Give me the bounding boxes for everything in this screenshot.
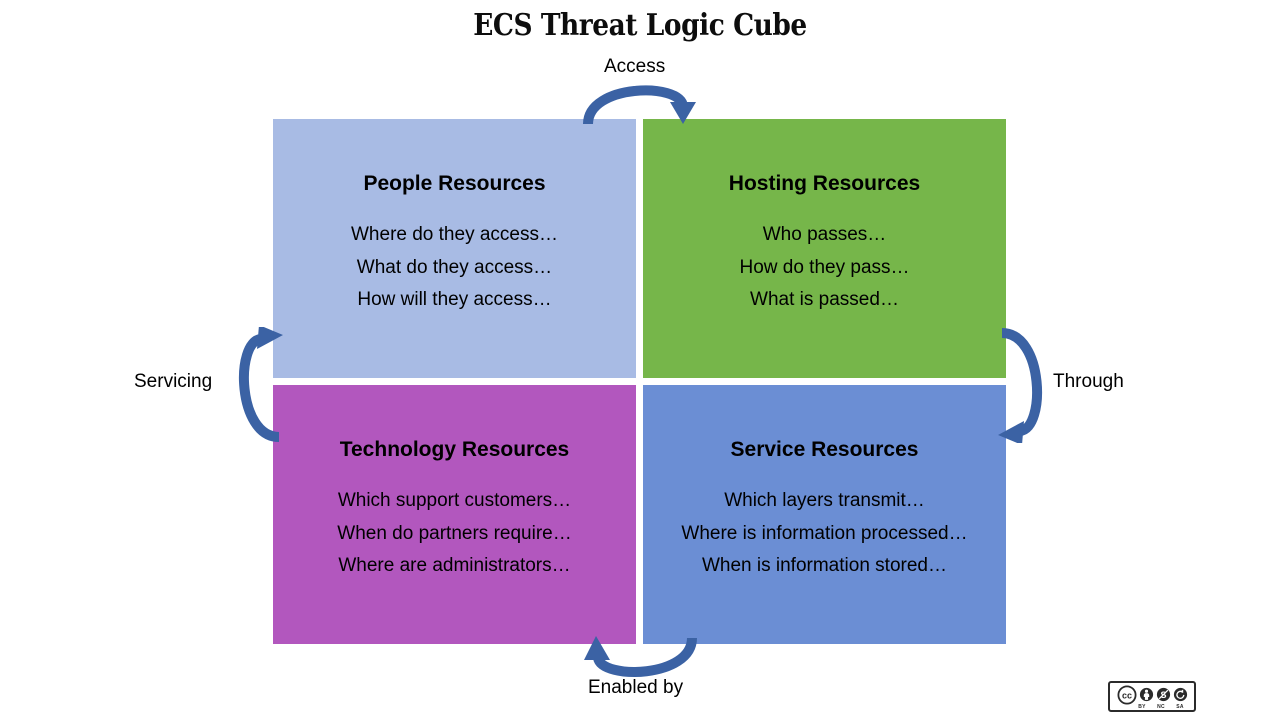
arrow-label-enabled-by: Enabled by <box>588 677 683 699</box>
cc-badge-labels: BY NC SA <box>1117 704 1188 710</box>
quadrant-line: Which support customers… <box>337 488 571 514</box>
quadrant-line: Who passes… <box>739 222 909 248</box>
quadrant-line: Where do they access… <box>351 222 558 248</box>
quadrant-people-resources[interactable]: People Resources Where do they access… W… <box>273 119 636 378</box>
page-title: ECS Threat Logic Cube <box>77 8 1203 43</box>
quadrant-hosting-resources[interactable]: Hosting Resources Who passes… How do the… <box>643 119 1006 378</box>
quadrant-line: Which layers transmit… <box>681 488 967 514</box>
quadrant-lines: Which support customers… When do partner… <box>337 488 571 579</box>
arrow-servicing <box>231 327 283 443</box>
quadrant-title: Service Resources <box>731 438 919 461</box>
cc-term-nc: NC <box>1154 704 1169 710</box>
quadrant-line: When is information stored… <box>681 553 967 579</box>
quadrant-title: Hosting Resources <box>729 172 920 195</box>
sharealike-icon <box>1173 687 1188 702</box>
quadrant-lines: Who passes… How do they pass… What is pa… <box>739 222 909 313</box>
arrow-through <box>998 327 1050 443</box>
quadrant-grid: People Resources Where do they access… W… <box>273 119 1006 645</box>
quadrant-line: When do partners require… <box>337 521 571 547</box>
svg-text:cc: cc <box>1121 690 1131 700</box>
quadrant-line: Where is information processed… <box>681 521 967 547</box>
creative-commons-badge[interactable]: cc S BY NC SA <box>1108 681 1196 712</box>
quadrant-line: What do they access… <box>351 255 558 281</box>
quadrant-line: How will they access… <box>351 287 558 313</box>
creative-commons-icon: cc <box>1117 685 1137 705</box>
quadrant-service-resources[interactable]: Service Resources Which layers transmit…… <box>643 385 1006 644</box>
quadrant-lines: Which layers transmit… Where is informat… <box>681 488 967 579</box>
quadrant-lines: Where do they access… What do they acces… <box>351 222 558 313</box>
arrow-label-through: Through <box>1053 371 1124 393</box>
cc-term-sa: SA <box>1173 704 1188 710</box>
arrow-label-servicing: Servicing <box>134 371 212 393</box>
quadrant-line: Where are administrators… <box>337 553 571 579</box>
quadrant-title: Technology Resources <box>340 438 570 461</box>
noncommercial-icon: S <box>1156 687 1171 702</box>
arrow-label-access: Access <box>604 56 665 78</box>
attribution-person-icon <box>1139 687 1154 702</box>
quadrant-technology-resources[interactable]: Technology Resources Which support custo… <box>273 385 636 644</box>
quadrant-line: What is passed… <box>739 287 909 313</box>
arrow-access <box>580 78 700 126</box>
cc-badge-icons: cc S <box>1117 685 1188 705</box>
quadrant-line: How do they pass… <box>739 255 909 281</box>
quadrant-title: People Resources <box>363 172 545 195</box>
cc-term-by: BY <box>1135 704 1150 710</box>
